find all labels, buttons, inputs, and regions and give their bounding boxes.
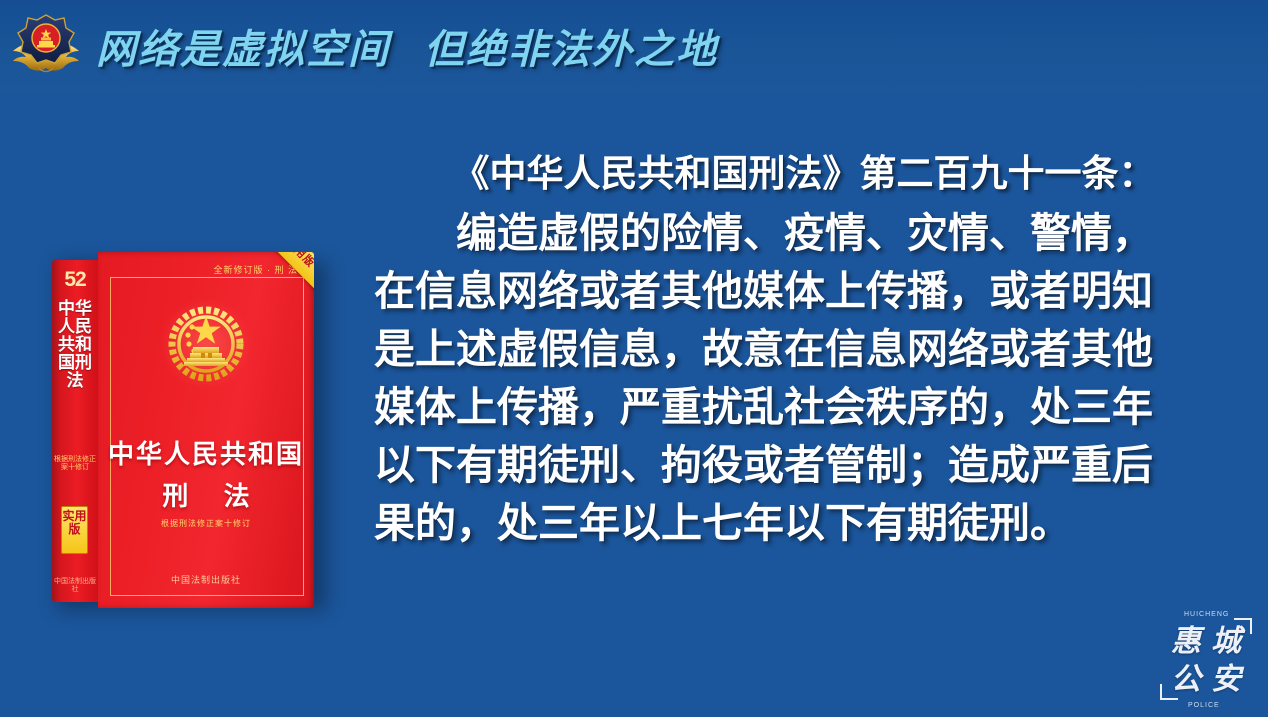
police-badge-icon (8, 11, 84, 83)
criminal-law-book-image: 52 中华人民共和国刑法 根据刑法修正案十修订 实用版 中国法制出版社 全新修订… (52, 252, 322, 608)
law-line: 编造虚假的险情、疫情、灾情、警情， (374, 204, 1234, 262)
poster-canvas: 网络是虚拟空间但绝非法外之地 52 中华人民共和国刑法 根据刑法修正案十修订 实… (0, 0, 1268, 717)
header-slogan: 网络是虚拟空间但绝非法外之地 (96, 17, 718, 75)
book-title-line-2: 刑 法 (98, 476, 314, 513)
national-emblem-icon (158, 296, 254, 392)
header-banner: 网络是虚拟空间但绝非法外之地 (0, 0, 1268, 92)
watermark-top-label: HUICHENG (1184, 611, 1229, 618)
book-spine-subtitle: 根据刑法修正案十修订 (52, 456, 98, 472)
law-text-block: 《中华人民共和国刑法》第二百九十一条： 编造虚假的险情、疫情、灾情、警情， 在信… (374, 150, 1234, 552)
book-front-cover: 全新修订版 · 刑 法 实用版 (98, 252, 314, 608)
book-edition-label: 全新修订版 · 刑 法 (214, 263, 299, 276)
book-spine-number: 52 (52, 268, 98, 292)
watermark-char: 惠 (1166, 623, 1206, 661)
law-line: 以下有期徒刑、拘役或者管制；造成严重后 (374, 436, 1234, 494)
slogan-part-1: 网络是虚拟空间 (96, 27, 390, 73)
law-line: 果的，处三年以上七年以下有期徒刑。 (374, 494, 1234, 552)
watermark-characters: 惠 城 公 安 (1166, 623, 1246, 699)
slogan-part-2: 但绝非法外之地 (424, 27, 718, 73)
watermark-char: 公 (1166, 661, 1206, 699)
watermark-bottom-label: POLICE (1188, 702, 1220, 709)
book-spine-tag: 实用版 (61, 506, 88, 554)
book-cover-publisher: 中国法制出版社 (98, 573, 314, 586)
book-title-line-1: 中华人民共和国 (98, 434, 314, 471)
law-line: 是上述虚假信息，故意在信息网络或者其他 (374, 320, 1234, 378)
watermark-char: 城 (1206, 623, 1246, 661)
huicheng-police-watermark: HUICHENG 惠 城 公 安 POLICE (1158, 609, 1254, 709)
law-article-title: 《中华人民共和国刑法》第二百九十一条： (374, 150, 1234, 198)
watermark-char: 安 (1206, 661, 1246, 699)
law-line: 媒体上传播，严重扰乱社会秩序的，处三年 (374, 378, 1234, 436)
book-cover-subtitle: 根据刑法修正案十修订 (98, 518, 314, 529)
law-line: 在信息网络或者其他媒体上传播，或者明知 (374, 262, 1234, 320)
book-spine-title: 中华人民共和国刑法 (52, 300, 98, 390)
book-spine-publisher: 中国法制出版社 (52, 578, 98, 594)
book-spine: 52 中华人民共和国刑法 根据刑法修正案十修订 实用版 中国法制出版社 (52, 260, 98, 602)
law-article-body: 编造虚假的险情、疫情、灾情、警情， 在信息网络或者其他媒体上传播，或者明知 是上… (374, 204, 1234, 552)
